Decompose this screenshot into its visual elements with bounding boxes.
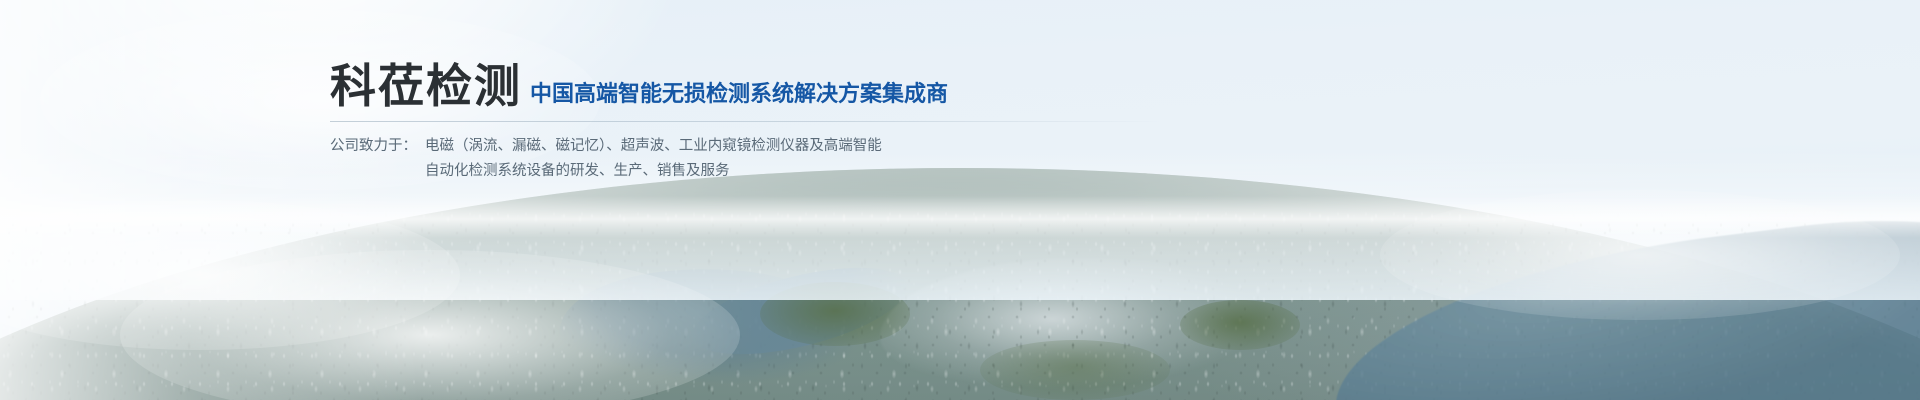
description-label: 公司致力于： bbox=[330, 134, 425, 159]
company-description: 公司致力于： 电磁（涡流、漏磁、磁记忆）、超声波、工业内窥镜检测仪器及高端智能 … bbox=[330, 134, 1230, 184]
banner-text-block: 科莅检测 中国高端智能无损检测系统解决方案集成商 公司致力于： 电磁（涡流、漏磁… bbox=[330, 62, 1230, 184]
hero-banner: 科莅检测 中国高端智能无损检测系统解决方案集成商 公司致力于： 电磁（涡流、漏磁… bbox=[0, 0, 1920, 400]
description-line-2: 自动化检测系统设备的研发、生产、销售及服务 bbox=[425, 159, 882, 184]
park-patch-2 bbox=[1180, 300, 1300, 350]
park-patch-1 bbox=[760, 282, 910, 346]
description-line-1: 电磁（涡流、漏磁、磁记忆）、超声波、工业内窥镜检测仪器及高端智能 bbox=[425, 134, 882, 159]
title-row: 科莅检测 中国高端智能无损检测系统解决方案集成商 bbox=[330, 62, 1230, 112]
brand-tagline: 中国高端智能无损检测系统解决方案集成商 bbox=[530, 83, 948, 111]
background-city-scene bbox=[0, 0, 1920, 400]
title-divider bbox=[330, 121, 1160, 122]
brand-title: 科莅检测 bbox=[330, 62, 522, 112]
description-body: 电磁（涡流、漏磁、磁记忆）、超声波、工业内窥镜检测仪器及高端智能 自动化检测系统… bbox=[425, 134, 882, 184]
park-patch-3 bbox=[980, 340, 1170, 400]
